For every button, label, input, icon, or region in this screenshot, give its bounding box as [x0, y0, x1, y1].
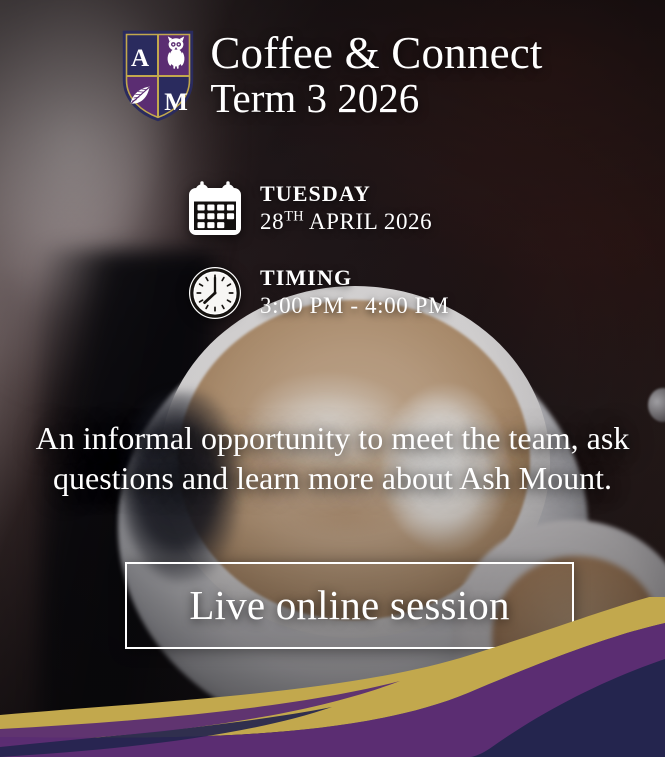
detail-label-date: TUESDAY: [260, 181, 432, 206]
bottom-swoosh-bands: [0, 597, 665, 757]
flyer-header: A M: [0, 30, 665, 122]
event-flyer: A M: [0, 0, 665, 757]
ash-mount-crest-icon: A M: [122, 30, 194, 122]
clock-icon: [186, 264, 244, 322]
flyer-subtitle: Term 3 2026: [210, 76, 542, 122]
detail-row-date: TUESDAY 28TH APRIL 2026: [186, 180, 449, 238]
svg-text:A: A: [131, 45, 149, 72]
detail-row-time: TIMING 3:00 PM - 4:00 PM: [186, 264, 449, 322]
title-group: Coffee & Connect Term 3 2026: [210, 30, 542, 122]
flyer-title: Coffee & Connect: [210, 30, 542, 76]
detail-value-date: 28TH APRIL 2026: [260, 208, 432, 237]
calendar-icon: [186, 180, 244, 238]
svg-text:M: M: [165, 89, 189, 116]
date-month-year: APRIL 2026: [304, 209, 432, 234]
event-description: An informal opportunity to meet the team…: [0, 418, 665, 499]
date-ordinal: TH: [284, 209, 304, 225]
detail-value-time: 3:00 PM - 4:00 PM: [260, 292, 449, 321]
detail-label-time: TIMING: [260, 265, 449, 290]
event-details: TUESDAY 28TH APRIL 2026: [186, 180, 449, 322]
date-day: 28: [260, 209, 284, 234]
